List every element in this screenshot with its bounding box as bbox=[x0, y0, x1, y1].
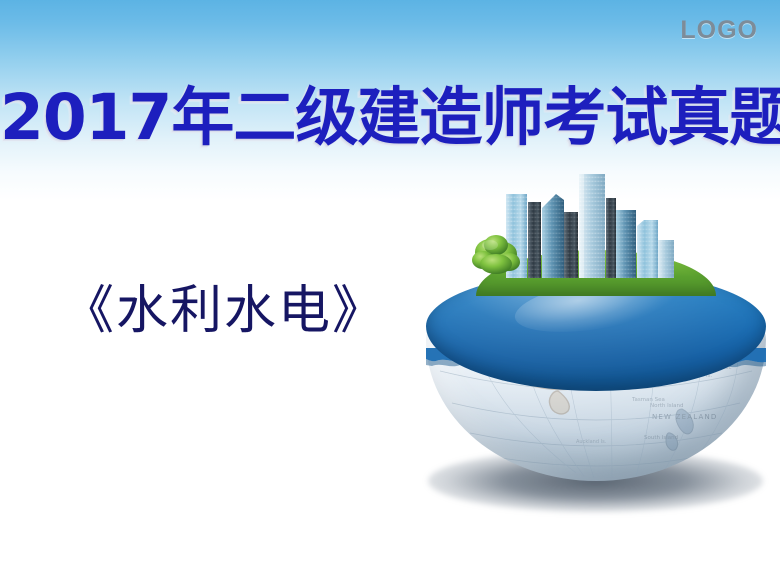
building-5 bbox=[579, 174, 605, 278]
page-subtitle: 《水利水电》 bbox=[62, 282, 386, 340]
building-8 bbox=[637, 220, 658, 278]
logo-placeholder: LOGO bbox=[680, 16, 758, 45]
building-2 bbox=[528, 202, 541, 278]
building-6 bbox=[606, 198, 616, 278]
building-7 bbox=[616, 210, 636, 278]
globe-graphic: AUSTRALIA OCEANIA NEW ZEALAND Northern T… bbox=[420, 168, 770, 508]
building-4 bbox=[564, 212, 578, 278]
svg-text:Auckland Is.: Auckland Is. bbox=[576, 439, 607, 445]
tree bbox=[470, 232, 524, 276]
page-title: 2017年二级建造师考试真题及答案 bbox=[0, 82, 780, 154]
presentation-slide: LOGO bbox=[0, 0, 780, 583]
building-9 bbox=[658, 240, 674, 278]
svg-text:NEW ZEALAND: NEW ZEALAND bbox=[652, 413, 718, 421]
tree-foliage-icon bbox=[470, 232, 524, 276]
svg-text:South Island: South Island bbox=[644, 435, 678, 441]
building-3 bbox=[542, 194, 564, 278]
